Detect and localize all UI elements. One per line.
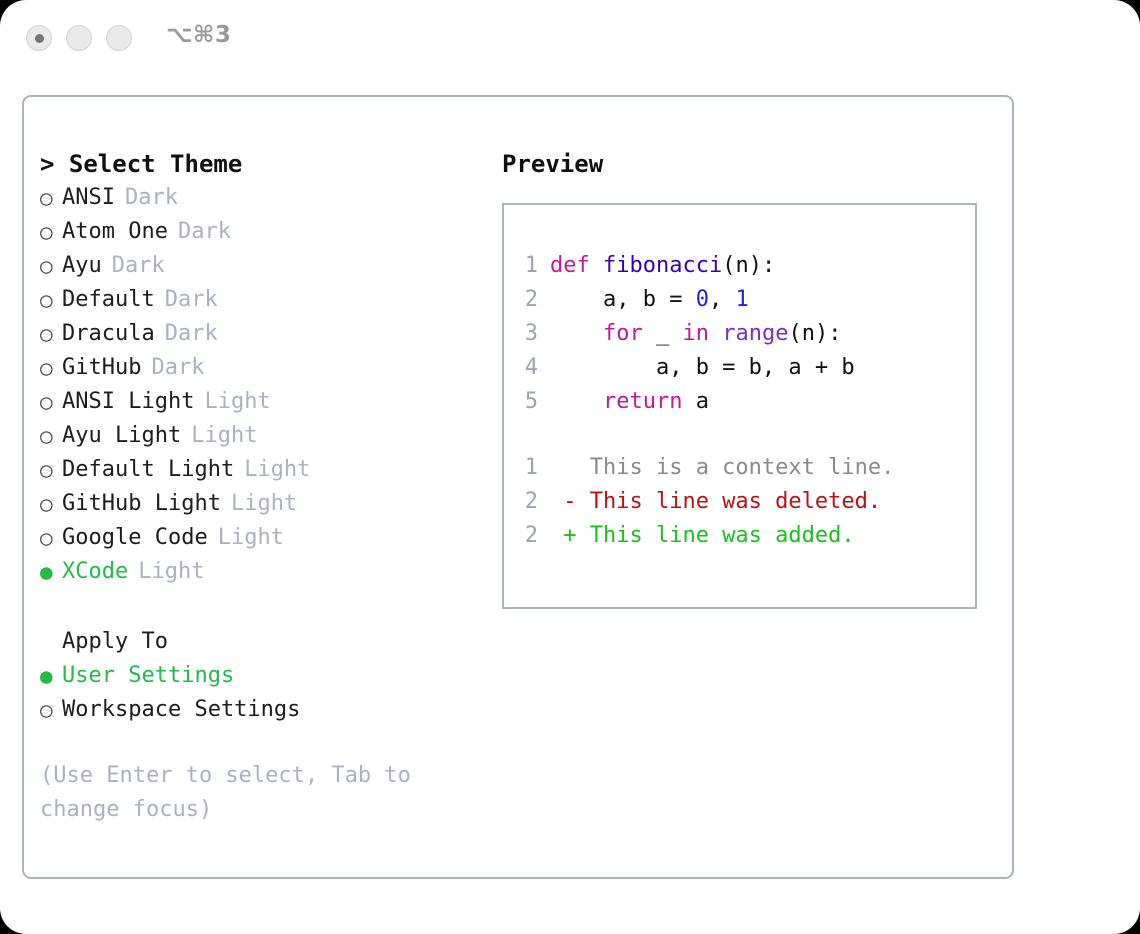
- theme-option-variant: Dark: [125, 181, 178, 215]
- window-dot-3-icon[interactable]: [106, 25, 132, 51]
- window-dot-2-icon[interactable]: [66, 25, 92, 51]
- theme-option-variant: Light: [231, 487, 297, 521]
- radio-unselected-icon: ○: [40, 385, 62, 419]
- diff-line-number: 2: [504, 485, 550, 519]
- radio-unselected-icon: ○: [40, 215, 62, 249]
- theme-option-variant: Light: [191, 419, 257, 453]
- theme-option-google-code[interactable]: ○Google CodeLight: [40, 521, 490, 555]
- theme-option-github[interactable]: ○GitHubDark: [40, 351, 490, 385]
- apply-to-option-user-settings[interactable]: ●User Settings: [40, 659, 490, 693]
- code-token-plain: a, b = b, a + b: [550, 355, 855, 380]
- code-line-number: 1: [504, 249, 550, 283]
- theme-option-variant: Dark: [165, 283, 218, 317]
- theme-option-name: Ayu: [62, 249, 102, 283]
- theme-option-variant: Light: [218, 521, 284, 555]
- theme-option-name: GitHub: [62, 351, 141, 385]
- app-window: ⌥⌘3 > Select Theme ○ANSIDark○Atom OneDar…: [0, 0, 1140, 934]
- diff-line-text: + This line was added.: [550, 519, 855, 553]
- code-line-text: a, b = 0, 1: [550, 283, 749, 317]
- theme-option-variant: Light: [204, 385, 270, 419]
- theme-option-name: Ayu Light: [62, 419, 181, 453]
- diff-line-text: - This line was deleted.: [550, 485, 881, 519]
- code-line: 4 a, b = b, a + b: [504, 351, 975, 385]
- radio-unselected-icon: ○: [40, 317, 62, 351]
- theme-option-variant: Dark: [178, 215, 231, 249]
- code-token-fn: fibonacci: [603, 253, 722, 278]
- code-line-number: 5: [504, 385, 550, 419]
- theme-option-atom-one[interactable]: ○Atom OneDark: [40, 215, 490, 249]
- theme-option-variant: Dark: [112, 249, 165, 283]
- code-line-text: def fibonacci(n):: [550, 249, 775, 283]
- theme-option-name: GitHub Light: [62, 487, 221, 521]
- code-line-number: 2: [504, 283, 550, 317]
- radio-selected-icon: ●: [40, 659, 62, 693]
- theme-option-default-light[interactable]: ○Default LightLight: [40, 453, 490, 487]
- theme-option-ansi-light[interactable]: ○ANSI LightLight: [40, 385, 490, 419]
- theme-list: ○ANSIDark○Atom OneDark○AyuDark○DefaultDa…: [40, 181, 490, 589]
- theme-option-name: Google Code: [62, 521, 208, 555]
- theme-selector-column: > Select Theme ○ANSIDark○Atom OneDark○Ay…: [40, 147, 490, 827]
- diff-line-del: 2 - This line was deleted.: [504, 485, 975, 519]
- radio-unselected-icon: ○: [40, 693, 62, 727]
- code-line: 3 for _ in range(n):: [504, 317, 975, 351]
- code-token-num: 0: [696, 287, 709, 312]
- code-line-text: a, b = b, a + b: [550, 351, 855, 385]
- code-line-text: return a: [550, 385, 709, 419]
- apply-to-option-workspace-settings[interactable]: ○Workspace Settings: [40, 693, 490, 727]
- code-line-number: 4: [504, 351, 550, 385]
- radio-unselected-icon: ○: [40, 453, 62, 487]
- theme-option-default[interactable]: ○DefaultDark: [40, 283, 490, 317]
- code-line-text: for _ in range(n):: [550, 317, 841, 351]
- theme-option-name: Dracula: [62, 317, 155, 351]
- preview-spacer: [504, 419, 975, 451]
- theme-option-ayu[interactable]: ○AyuDark: [40, 249, 490, 283]
- radio-unselected-icon: ○: [40, 181, 62, 215]
- radio-unselected-icon: ○: [40, 521, 62, 555]
- code-token-plain: a, b =: [550, 287, 696, 312]
- theme-option-name: XCode: [62, 555, 128, 589]
- code-token-kw: def: [550, 253, 603, 278]
- diff-sample-block: 1 This is a context line.2 - This line w…: [504, 451, 975, 553]
- preview-column: Preview 1def fibonacci(n):2 a, b = 0, 13…: [502, 147, 997, 609]
- theme-option-variant: Light: [138, 555, 204, 589]
- code-token-plain: [550, 389, 603, 414]
- theme-option-variant: Light: [244, 453, 310, 487]
- diff-line-number: 2: [504, 519, 550, 553]
- theme-option-name: ANSI: [62, 181, 115, 215]
- preview-box: 1def fibonacci(n):2 a, b = 0, 13 for _ i…: [502, 203, 977, 609]
- theme-option-ayu-light[interactable]: ○Ayu LightLight: [40, 419, 490, 453]
- code-token-plain: ,: [709, 287, 736, 312]
- radio-unselected-icon: ○: [40, 487, 62, 521]
- theme-option-xcode[interactable]: ●XCodeLight: [40, 555, 490, 589]
- code-token-plain: [709, 321, 722, 346]
- theme-option-name: Default Light: [62, 453, 234, 487]
- code-token-plain: (n):: [788, 321, 841, 346]
- keyboard-hint-text: (Use Enter to select, Tab to change focu…: [40, 759, 440, 827]
- diff-line-add: 2 + This line was added.: [504, 519, 975, 553]
- code-line: 5 return a: [504, 385, 975, 419]
- code-token-kw: return: [603, 389, 682, 414]
- code-line: 1def fibonacci(n):: [504, 249, 975, 283]
- radio-unselected-icon: ○: [40, 283, 62, 317]
- keyboard-shortcut-label: ⌥⌘3: [166, 22, 231, 48]
- apply-to-section: Apply To ●User Settings○Workspace Settin…: [40, 625, 490, 727]
- apply-to-option-label: Workspace Settings: [62, 693, 300, 727]
- theme-option-variant: Dark: [165, 317, 218, 351]
- code-line-number: 3: [504, 317, 550, 351]
- code-token-plain: _: [643, 321, 683, 346]
- diff-line-ctx: 1 This is a context line.: [504, 451, 975, 485]
- code-token-kw: in: [682, 321, 709, 346]
- code-line: 2 a, b = 0, 1: [504, 283, 975, 317]
- theme-option-name: Default: [62, 283, 155, 317]
- apply-to-list: ●User Settings○Workspace Settings: [40, 659, 490, 727]
- radio-unselected-icon: ○: [40, 419, 62, 453]
- code-token-plain: a: [682, 389, 709, 414]
- content-panel: > Select Theme ○ANSIDark○Atom OneDark○Ay…: [22, 95, 1014, 879]
- window-titlebar: ⌥⌘3: [0, 0, 1140, 78]
- code-token-plain: [550, 321, 603, 346]
- theme-option-variant: Dark: [151, 351, 204, 385]
- apply-to-option-label: User Settings: [62, 659, 234, 693]
- window-dot-active-icon[interactable]: [26, 25, 52, 51]
- apply-to-heading: Apply To: [40, 625, 490, 659]
- radio-selected-icon: ●: [40, 555, 62, 589]
- theme-option-name: ANSI Light: [62, 385, 194, 419]
- radio-unselected-icon: ○: [40, 249, 62, 283]
- theme-option-name: Atom One: [62, 215, 168, 249]
- radio-unselected-icon: ○: [40, 351, 62, 385]
- code-token-kw: for: [603, 321, 643, 346]
- theme-option-dracula[interactable]: ○DraculaDark: [40, 317, 490, 351]
- preview-heading: Preview: [502, 147, 997, 181]
- diff-line-text: This is a context line.: [550, 451, 894, 485]
- code-token-num: 1: [735, 287, 748, 312]
- theme-option-ansi[interactable]: ○ANSIDark: [40, 181, 490, 215]
- code-token-plain: (n):: [722, 253, 775, 278]
- code-sample-block: 1def fibonacci(n):2 a, b = 0, 13 for _ i…: [504, 249, 975, 419]
- code-token-builtin: range: [722, 321, 788, 346]
- select-theme-heading: > Select Theme: [40, 147, 490, 181]
- theme-option-github-light[interactable]: ○GitHub LightLight: [40, 487, 490, 521]
- diff-line-number: 1: [504, 451, 550, 485]
